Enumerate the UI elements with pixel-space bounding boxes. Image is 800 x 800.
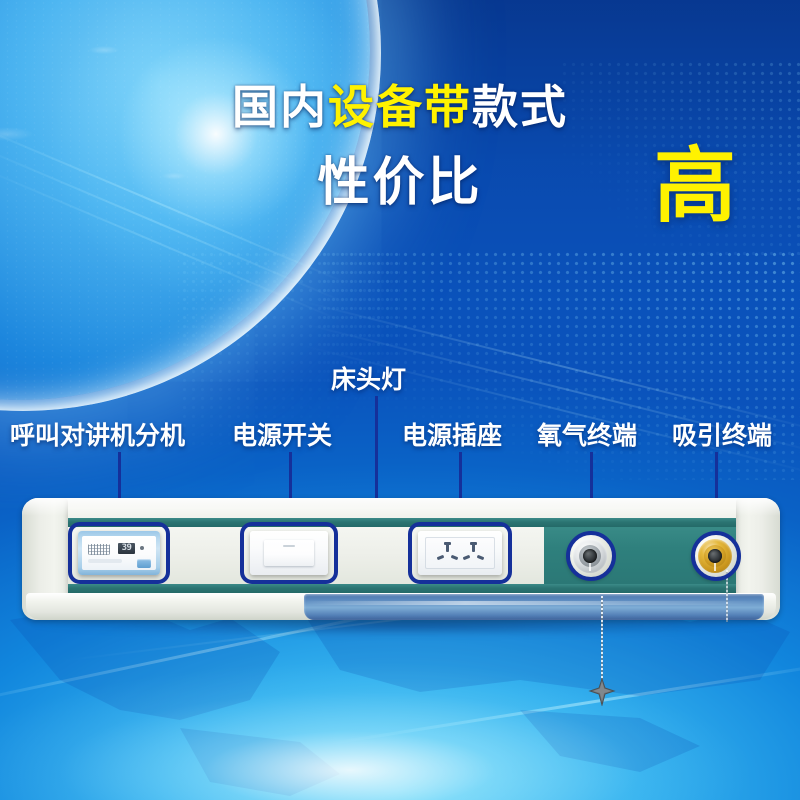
panel-top-highlight bbox=[22, 498, 780, 516]
callout-label-power-socket: 电源插座 bbox=[402, 416, 502, 452]
socket-pin-left bbox=[463, 555, 471, 560]
socket-pin-cap bbox=[444, 542, 451, 545]
callout-layer: 呼叫对讲机分机 电源开关 床头灯 电源插座 氧气终端 吸引终端 bbox=[0, 0, 800, 800]
callout-label-suction-outlet: 吸引终端 bbox=[672, 416, 772, 452]
panel-stripe-top bbox=[62, 518, 740, 527]
callout-label-oxygen-outlet: 氧气终端 bbox=[537, 416, 637, 452]
suction-alignment-tick-icon bbox=[714, 563, 716, 571]
socket-pin-cap bbox=[470, 542, 477, 545]
pull-cord-secondary[interactable] bbox=[726, 570, 728, 622]
power-socket-plate[interactable] bbox=[418, 531, 502, 575]
socket-outlet-right[interactable] bbox=[461, 544, 487, 564]
socket-outlet-left[interactable] bbox=[435, 544, 461, 564]
socket-pin-right bbox=[477, 555, 485, 560]
socket-pin-left bbox=[437, 555, 445, 560]
status-led-icon bbox=[140, 546, 144, 550]
callout-label-power-switch: 电源开关 bbox=[232, 416, 332, 452]
intercom-label-strip bbox=[88, 559, 122, 563]
socket-pin-right bbox=[451, 555, 459, 560]
panel-blue-slide-rail bbox=[304, 594, 764, 620]
socket-pin-vertical bbox=[446, 544, 449, 552]
panel-stripe-bottom bbox=[62, 584, 740, 593]
pull-cord[interactable] bbox=[601, 596, 603, 682]
socket-pin-vertical bbox=[472, 544, 475, 552]
power-switch-plate[interactable] bbox=[250, 531, 328, 575]
intercom-faceplate: 39 bbox=[82, 536, 156, 570]
rocker-notch-icon bbox=[283, 545, 295, 547]
suction-port-core bbox=[708, 549, 722, 563]
speaker-grille-icon bbox=[88, 544, 110, 555]
oxygen-port-core bbox=[583, 549, 597, 563]
rail-highlight bbox=[304, 601, 764, 605]
poster-canvas: 国内设备带款式 性价比 高 呼叫对讲机分机 电源开关 床头灯 电源插座 氧气终端… bbox=[0, 0, 800, 800]
intercom-display: 39 bbox=[118, 543, 135, 554]
oxygen-alignment-tick-icon bbox=[589, 563, 591, 571]
oxygen-gas-outlet[interactable] bbox=[567, 533, 613, 579]
socket-inner-face bbox=[425, 537, 495, 569]
power-switch-rocker[interactable] bbox=[264, 540, 314, 566]
suction-gas-outlet[interactable] bbox=[692, 533, 738, 579]
callout-label-bed-lamp: 床头灯 bbox=[331, 360, 406, 396]
nurse-call-intercom-unit[interactable]: 39 bbox=[78, 531, 160, 575]
pull-cord-weight-icon[interactable] bbox=[588, 678, 616, 706]
callout-label-intercom: 呼叫对讲机分机 bbox=[10, 416, 185, 452]
intercom-call-button[interactable] bbox=[137, 559, 151, 568]
